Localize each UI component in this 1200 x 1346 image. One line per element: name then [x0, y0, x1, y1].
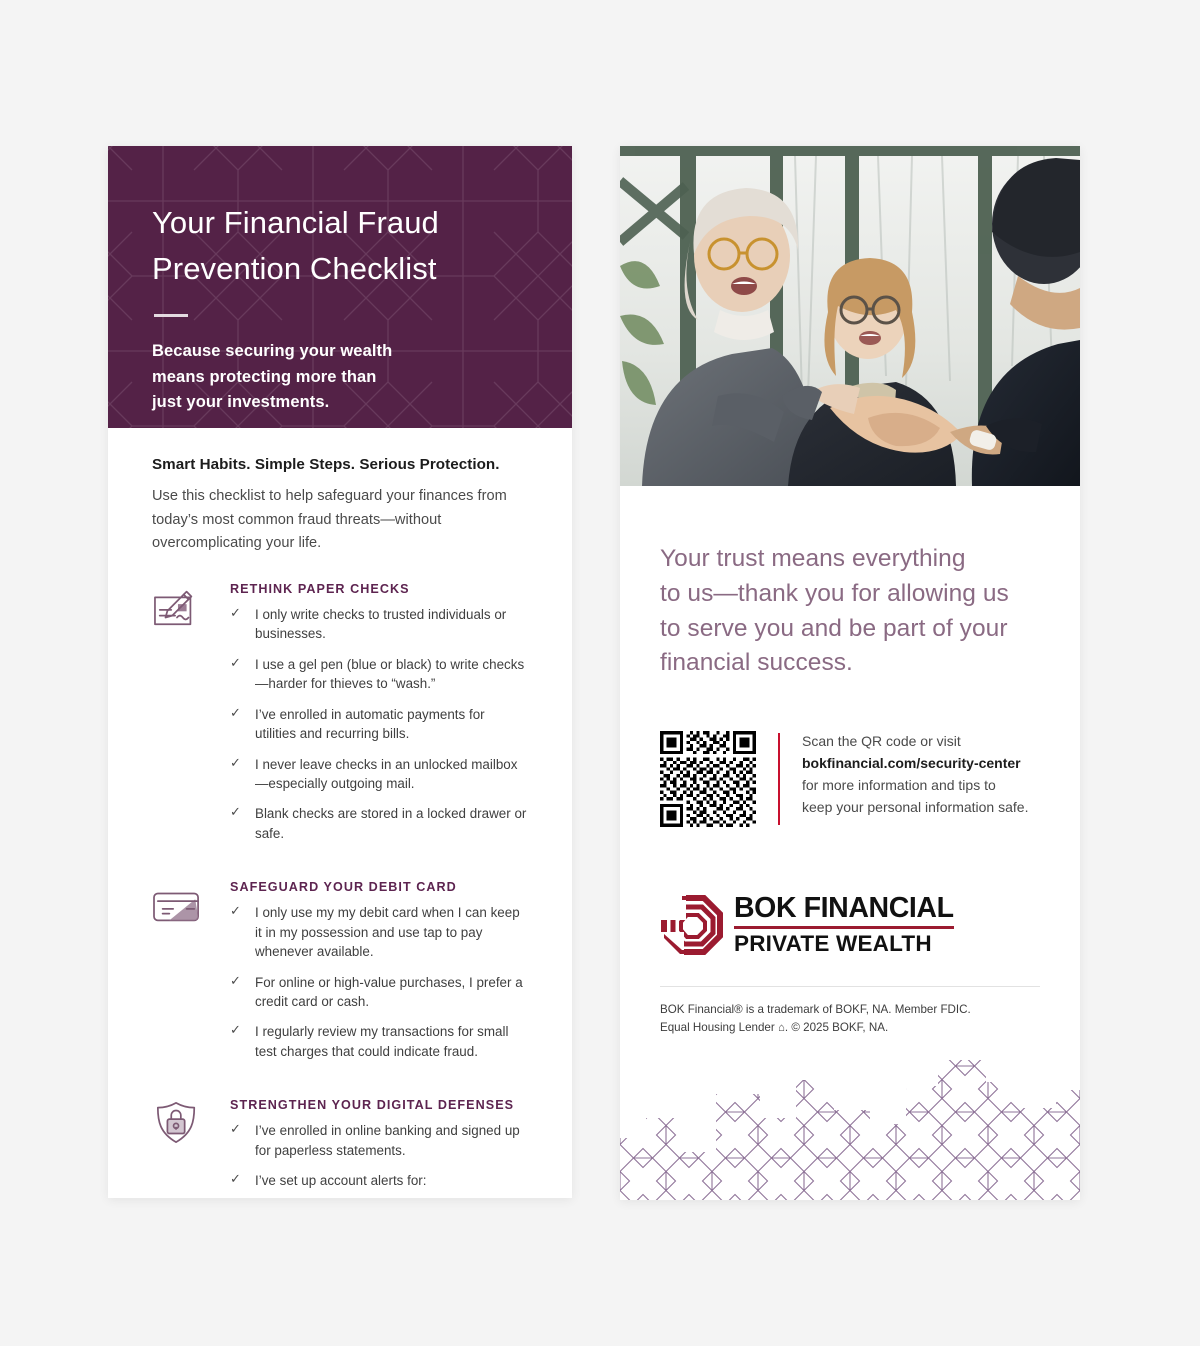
check-mark-icon: ✓ — [230, 1170, 241, 1189]
legal-fineprint: BOK Financial® is a trademark of BOKF, N… — [660, 1001, 1040, 1037]
bok-octagon-logo-icon — [660, 894, 724, 956]
lede-text: Use this checklist to help safeguard you… — [152, 485, 528, 556]
checklist-panel: Your Financial Fraud Prevention Checklis… — [108, 146, 572, 1198]
brochure-stage: Your Financial Fraud Prevention Checklis… — [0, 0, 1200, 1346]
footer-divider — [660, 986, 1040, 987]
fineprint-line-2-post: . © 2025 BOKF, NA. — [785, 1021, 888, 1034]
section-heading: STRENGTHEN YOUR DIGITAL DEFENSES — [230, 1098, 528, 1112]
brand-panel: Your trust means everything to us—thank … — [620, 146, 1080, 1200]
brand-panel-body: Your trust means everything to us—thank … — [620, 486, 1080, 1037]
check-mark-icon: ✓ — [230, 754, 241, 773]
checklist-item-label: I’ve enrolled in automatic payments for … — [255, 707, 485, 741]
trust-quote-line-2: to us—thank you for allowing us — [660, 577, 1040, 612]
trust-quote-line-3: to serve you and be part of your — [660, 612, 1040, 647]
check-mark-icon: ✓ — [230, 902, 241, 921]
bullet-icon: • — [257, 1195, 261, 1198]
check-mark-icon: ✓ — [230, 704, 241, 723]
fineprint-line-1: BOK Financial® is a trademark of BOKF, N… — [660, 1001, 1040, 1019]
check-with-pen-icon — [152, 582, 206, 854]
checklist-item-label: I’ve set up account alerts for: — [255, 1173, 427, 1188]
checklist-subitem: •Unusual withdrawal types (ACH, wire, AT… — [255, 1196, 528, 1198]
checklist-item[interactable]: ✓For online or high-value purchases, I p… — [230, 973, 528, 1012]
check-mark-icon: ✓ — [230, 972, 241, 991]
checklist-section: RETHINK PAPER CHECKS ✓I only write check… — [152, 582, 528, 854]
checklist-item-label: I only write checks to trusted individua… — [255, 607, 506, 641]
checklist-item-label: I only use my my debit card when I can k… — [255, 905, 520, 959]
checklist-item-label: I use a gel pen (blue or black) to write… — [255, 657, 524, 691]
logo-name-primary: BOK FINANCIAL — [734, 893, 954, 923]
checklist-item[interactable]: ✓I never leave checks in an unlocked mai… — [230, 755, 528, 794]
checklist-items: ✓I only use my my debit card when I can … — [230, 903, 528, 1061]
fineprint-line-2-pre: Equal Housing Lender — [660, 1021, 775, 1034]
hero-subtitle-line-1: Because securing your wealth — [152, 339, 528, 365]
page-title-line-1: Your Financial Fraud — [152, 200, 528, 246]
equal-housing-lender-icon: ⌂ — [778, 1022, 785, 1034]
title-rule-divider — [154, 314, 188, 317]
hero-subtitle-line-2: means protecting more than — [152, 365, 528, 391]
qr-line-3: for more information and tips to — [802, 775, 1028, 797]
checklist-item[interactable]: ✓I only use my my debit card when I can … — [230, 903, 528, 961]
credit-card-icon — [152, 880, 206, 1072]
check-mark-icon: ✓ — [230, 1120, 241, 1139]
shield-lock-icon — [152, 1098, 206, 1198]
checklist-body: Smart Habits. Simple Steps. Serious Prot… — [108, 428, 572, 1198]
checklist-items: ✓I’ve enrolled in online banking and sig… — [230, 1121, 528, 1198]
bok-financial-logo: BOK FINANCIAL PRIVATE WEALTH — [660, 893, 1040, 956]
qr-instructions: Scan the QR code or visit bokfinancial.c… — [780, 731, 1028, 819]
checklist-item[interactable]: ✓Blank checks are stored in a locked dra… — [230, 804, 528, 843]
checklist-section: STRENGTHEN YOUR DIGITAL DEFENSES ✓I’ve e… — [152, 1098, 528, 1198]
section-heading: SAFEGUARD YOUR DEBIT CARD — [230, 880, 528, 894]
checklist-item[interactable]: ✓I’ve enrolled in online banking and sig… — [230, 1121, 528, 1160]
hero-subtitle-line-3: just your investments. — [152, 390, 528, 416]
hero-header: Your Financial Fraud Prevention Checklis… — [108, 146, 572, 428]
checklist-section-body: SAFEGUARD YOUR DEBIT CARD ✓I only use my… — [206, 880, 528, 1072]
fineprint-line-2: Equal Housing Lender ⌂. © 2025 BOKF, NA. — [660, 1019, 1040, 1037]
hex-pattern-footer — [620, 1020, 1080, 1200]
checklist-item[interactable]: ✓I use a gel pen (blue or black) to writ… — [230, 655, 528, 694]
checklist-item-label: I never leave checks in an unlocked mail… — [255, 757, 517, 791]
logo-wordmark: BOK FINANCIAL PRIVATE WEALTH — [724, 893, 954, 956]
checklist-items: ✓I only write checks to trusted individu… — [230, 605, 528, 843]
qr-callout: Scan the QR code or visit bokfinancial.c… — [660, 731, 1040, 827]
checklist-item[interactable]: ✓I regularly review my transactions for … — [230, 1022, 528, 1061]
qr-line-1: Scan the QR code or visit — [802, 731, 1028, 753]
trust-quote-line-1: Your trust means everything — [660, 542, 1040, 577]
trust-quote-line-4: financial success. — [660, 646, 1040, 681]
check-mark-icon: ✓ — [230, 803, 241, 822]
check-mark-icon: ✓ — [230, 604, 241, 623]
checklist-item[interactable]: ✓ I’ve set up account alerts for: •Unusu… — [230, 1171, 528, 1198]
checklist-item-label: Blank checks are stored in a locked draw… — [255, 806, 526, 840]
checklist-subitems: •Unusual withdrawal types (ACH, wire, AT… — [255, 1196, 528, 1198]
checklist-item[interactable]: ✓I’ve enrolled in automatic payments for… — [230, 705, 528, 744]
checklist-item-label: I’ve enrolled in online banking and sign… — [255, 1123, 520, 1157]
lede-title: Smart Habits. Simple Steps. Serious Prot… — [152, 456, 528, 473]
logo-rule-divider — [734, 926, 954, 929]
checklist-section-body: STRENGTHEN YOUR DIGITAL DEFENSES ✓I’ve e… — [206, 1098, 528, 1198]
handshake-photo — [620, 146, 1080, 486]
trust-quote: Your trust means everything to us—thank … — [660, 542, 1040, 681]
checklist-item-label: I regularly review my transactions for s… — [255, 1024, 508, 1058]
qr-code-icon[interactable] — [660, 731, 756, 827]
check-mark-icon: ✓ — [230, 654, 241, 673]
page-title-line-2: Prevention Checklist — [152, 246, 528, 292]
checklist-item-label: For online or high-value purchases, I pr… — [255, 975, 523, 1009]
logo-name-secondary: PRIVATE WEALTH — [734, 932, 954, 956]
page-title: Your Financial Fraud Prevention Checklis… — [152, 200, 528, 291]
hero-subtitle: Because securing your wealth means prote… — [152, 339, 528, 416]
security-center-url[interactable]: bokfinancial.com/security-center — [802, 753, 1028, 775]
check-mark-icon: ✓ — [230, 1021, 241, 1040]
checklist-item[interactable]: ✓I only write checks to trusted individu… — [230, 605, 528, 644]
section-heading: RETHINK PAPER CHECKS — [230, 582, 528, 596]
checklist-section: SAFEGUARD YOUR DEBIT CARD ✓I only use my… — [152, 880, 528, 1072]
checklist-section-body: RETHINK PAPER CHECKS ✓I only write check… — [206, 582, 528, 854]
qr-line-4: keep your personal information safe. — [802, 797, 1028, 819]
